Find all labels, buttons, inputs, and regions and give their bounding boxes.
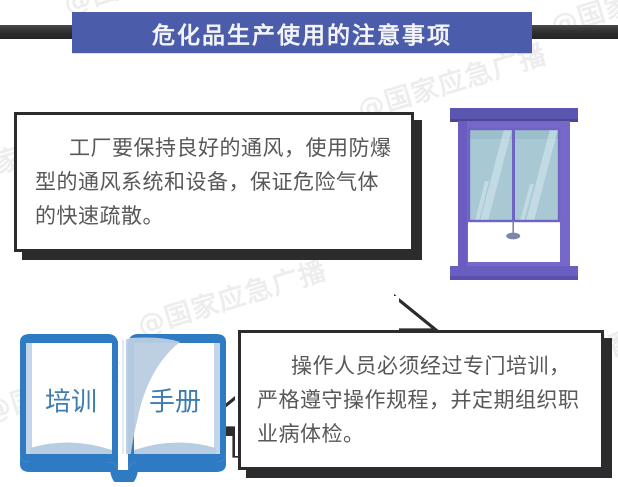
speech-bubble-training: 操作人员必须经过专门培训，严格遵守操作规程，并定期组织职业病体检。 bbox=[238, 330, 604, 470]
bubble-body: 工厂要保持良好的通风，使用防爆型的通风系统和设备，保证危险气体的快速疏散。 bbox=[14, 112, 414, 252]
window-mullion bbox=[512, 129, 515, 221]
bubble-text: 操作人员必须经过专门培训，严格遵守操作规程，并定期组织职业病体检。 bbox=[241, 333, 601, 467]
book-label-left: 培训 bbox=[45, 388, 97, 418]
banner-plate: 危化品生产使用的注意事项 bbox=[72, 12, 532, 53]
book-label-right: 手册 bbox=[149, 388, 201, 418]
blind-cord bbox=[512, 221, 514, 234]
book-page-edge-right bbox=[214, 343, 220, 454]
page-title: 危化品生产使用的注意事项 bbox=[72, 12, 532, 53]
banner-rail-right bbox=[528, 25, 618, 39]
book-bookmark-icon bbox=[110, 470, 138, 482]
poster-canvas: @国家应急广播 @国家应急广播 @国家应急广播 @国家应急广播 @国家应急广播 … bbox=[0, 0, 618, 487]
bubble-text: 工厂要保持良好的通风，使用防爆型的通风系统和设备，保证危险气体的快速疏散。 bbox=[17, 115, 411, 249]
bubble-body: 操作人员必须经过专门培训，严格遵守操作规程，并定期组织职业病体检。 bbox=[238, 330, 604, 470]
header-banner: 危化品生产使用的注意事项 bbox=[0, 0, 618, 62]
book-page-edge-left bbox=[26, 343, 32, 454]
window-sill-shade bbox=[450, 276, 578, 280]
book-illustration: 培训 手册 bbox=[12, 330, 234, 482]
speech-bubble-ventilation: 工厂要保持良好的通风，使用防爆型的通风系统和设备，保证危险气体的快速疏散。 bbox=[14, 112, 414, 252]
window-illustration bbox=[448, 108, 580, 283]
window-frame-left bbox=[458, 121, 467, 269]
blind-handle-icon bbox=[506, 233, 520, 240]
